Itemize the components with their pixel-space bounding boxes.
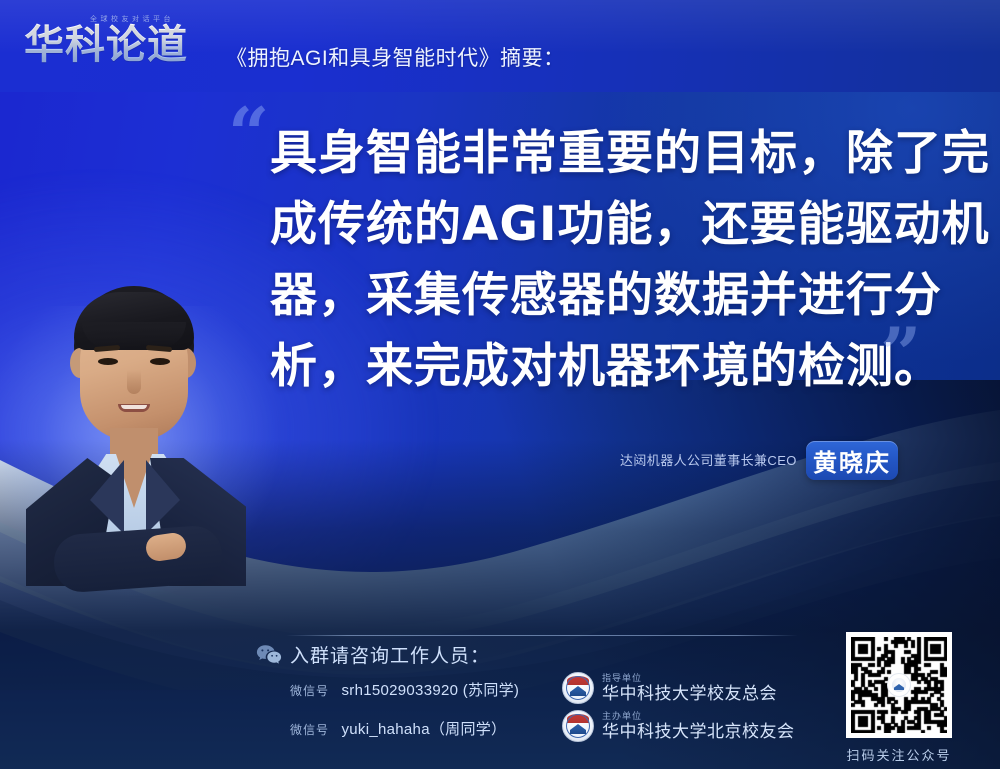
quote-text: 具身智能非常重要的目标，除了完 成传统的AGI功能，还要能驱动机 器，采集传感器… (270, 118, 960, 402)
quote-line: 成传统的AGI功能，还要能驱动机 (270, 189, 960, 260)
qr-code-block[interactable]: 扫码关注公众号 (833, 632, 965, 744)
qr-center-logo-icon (887, 673, 911, 697)
page-title: 《拥抱AGI和具身智能时代》摘要： (226, 42, 565, 72)
organization-role: 指导单位 (602, 673, 777, 684)
organization-name: 华中科技大学校友总会 (602, 684, 777, 704)
quote-open-mark: “ (228, 98, 269, 170)
quote-line: 析，来完成对机器环境的检测。 (270, 331, 960, 402)
footer-divider (286, 635, 798, 636)
organization-row: 主办单位 华中科技大学北京校友会 (562, 710, 795, 742)
university-seal-icon (562, 672, 594, 704)
wechat-contact-row[interactable]: 微信号 yuki_hahaha（周同学） (290, 718, 506, 739)
university-seal-icon (562, 710, 594, 742)
wechat-icon (256, 644, 282, 666)
portrait-eye-right (150, 358, 170, 365)
poster-canvas: 全球校友对话平台 华科论道 《拥抱AGI和具身智能时代》摘要： “ 具身智能非常… (0, 0, 1000, 769)
quote-line: 器，采集传感器的数据并进行分 (270, 260, 960, 331)
footer-heading: 入群请咨询工作人员： (290, 641, 490, 668)
portrait-crossed-arms (52, 524, 224, 594)
portrait-eye-left (98, 358, 118, 365)
logo-wordmark: 华科论道 (24, 22, 224, 68)
brand-logo[interactable]: 全球校友对话平台 华科论道 (24, 12, 224, 74)
speaker-role: 达闼机器人公司董事长兼CEO (620, 450, 797, 469)
organization-role: 主办单位 (602, 711, 795, 722)
wechat-label: 微信号 (290, 723, 329, 737)
speaker-name: 黄晓庆 (813, 443, 891, 478)
wechat-id: srh15029033920 (苏同学) (341, 682, 519, 699)
portrait-hair (74, 292, 194, 350)
qr-caption: 扫码关注公众号 (833, 745, 965, 764)
portrait-mouth (118, 404, 150, 412)
quote-line: 具身智能非常重要的目标，除了完 (270, 118, 960, 189)
speaker-portrait (18, 286, 248, 586)
wechat-label: 微信号 (290, 684, 329, 698)
organization-name: 华中科技大学北京校友会 (602, 722, 795, 742)
wechat-contact-row[interactable]: 微信号 srh15029033920 (苏同学) (290, 679, 519, 700)
organization-row: 指导单位 华中科技大学校友总会 (562, 672, 777, 704)
portrait-nose (127, 370, 141, 394)
speaker-name-badge: 黄晓庆 (806, 441, 898, 480)
qr-code[interactable] (846, 632, 952, 738)
quote-close-mark: ” (880, 318, 921, 390)
wechat-id: yuki_hahaha（周同学） (341, 721, 506, 738)
